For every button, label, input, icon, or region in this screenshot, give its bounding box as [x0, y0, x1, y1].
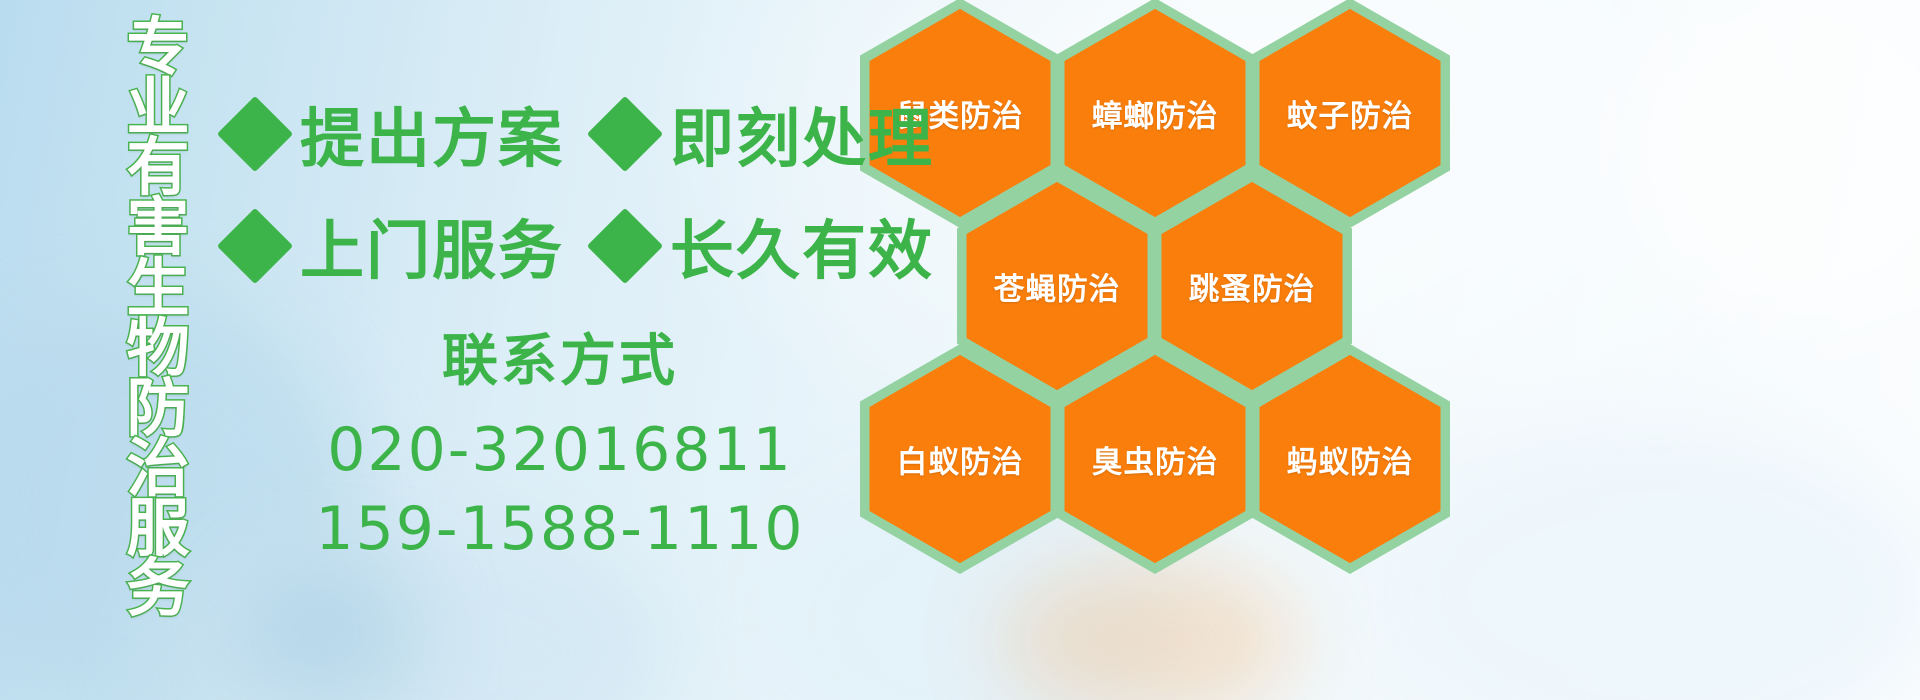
vertical-title-char: 物 — [127, 319, 190, 379]
service-hex-ant[interactable]: 蚂蚁防治 — [1250, 344, 1450, 574]
vertical-title-char: 务 — [127, 559, 190, 619]
service-label: 苍蝇防治 — [994, 264, 1121, 308]
background-blob — [240, 560, 420, 700]
service-label: 臭虫防治 — [1092, 437, 1219, 481]
slogan-list: 提出方案 即刻处理 上门服务 长久有效 — [228, 78, 934, 302]
banner-canvas: 专 业 有 害 生 物 防 治 服 务 提出方案 即刻处理 上门服务 长久有效 … — [0, 0, 1920, 700]
diamond-icon — [217, 208, 293, 284]
slogan-text: 提出方案 — [300, 88, 564, 180]
slogan-row: 上门服务 长久有效 — [228, 190, 934, 302]
diamond-icon — [217, 96, 293, 172]
vertical-title-char: 害 — [127, 198, 190, 258]
diamond-icon — [587, 96, 663, 172]
service-label: 蟑螂防治 — [1092, 91, 1219, 135]
service-label: 蚊子防治 — [1287, 91, 1414, 135]
vertical-title-char: 治 — [127, 439, 190, 499]
service-hex-bedbug[interactable]: 臭虫防治 — [1055, 344, 1255, 574]
vertical-title: 专 业 有 害 生 物 防 治 服 务 — [112, 18, 204, 686]
background-blob — [1000, 560, 1300, 700]
vertical-title-char: 业 — [127, 78, 190, 138]
service-label: 蚂蚁防治 — [1287, 437, 1414, 481]
service-label: 白蚁防治 — [897, 437, 1024, 481]
vertical-title-char: 生 — [127, 259, 190, 319]
slogan-row: 提出方案 即刻处理 — [228, 78, 934, 190]
service-honeycomb: 鼠类防治 蟑螂防治 蚊子防治 苍蝇防治 跳蚤防治 — [852, 0, 1472, 550]
slogan-text: 即刻处理 — [670, 88, 934, 180]
vertical-title-char: 专 — [127, 18, 190, 78]
diamond-icon — [587, 208, 663, 284]
service-hex-termite[interactable]: 白蚁防治 — [860, 344, 1060, 574]
contact-title: 联系方式 — [300, 316, 820, 397]
phone-landline[interactable]: 020-32016811 — [300, 411, 820, 490]
contact-block: 联系方式 020-32016811 159-1588-1110 — [300, 316, 820, 569]
vertical-title-char: 防 — [127, 379, 190, 439]
phone-mobile[interactable]: 159-1588-1110 — [300, 490, 820, 569]
background-blob — [1620, 0, 1920, 340]
vertical-title-char: 有 — [127, 138, 190, 198]
slogan-text: 长久有效 — [670, 200, 934, 292]
vertical-title-char: 服 — [127, 499, 190, 559]
slogan-text: 上门服务 — [300, 200, 564, 292]
service-label: 跳蚤防治 — [1189, 264, 1316, 308]
